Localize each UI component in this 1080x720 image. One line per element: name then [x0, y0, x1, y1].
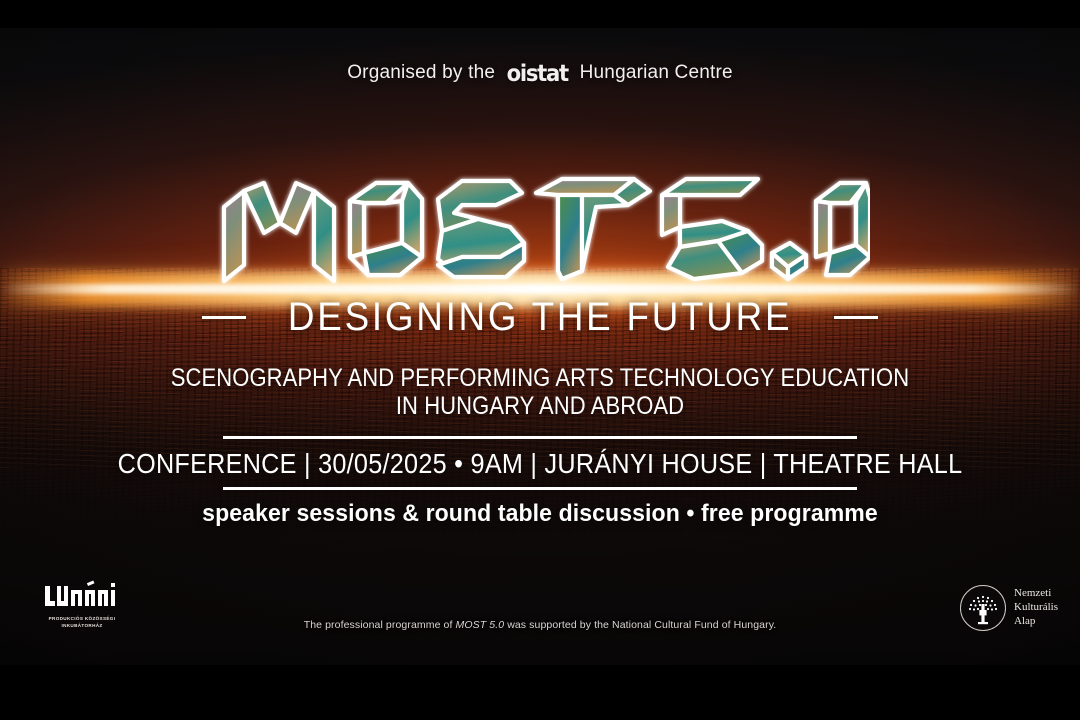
letterbox-bottom: [0, 665, 1080, 720]
juranyi-subtitle: PRODUKCIÓS KÖZÖSSÉGI INKUBÁTORHÁZ: [36, 616, 128, 630]
juranyi-wordmark-icon: [36, 578, 128, 612]
poster-content: Organised by the oistat Hungarian Centre: [0, 0, 1080, 720]
title-letter-S: [438, 181, 524, 277]
juranyi-subtitle-line-2: INKUBÁTORHÁZ: [36, 623, 128, 630]
rule-bottom-wrap: [0, 487, 1080, 490]
nka-logo: Nemzeti Kulturális Alap: [960, 585, 1058, 631]
support-note: The professional programme of MOST 5.0 w…: [0, 619, 1080, 631]
title-letter-T: [536, 179, 650, 279]
juranyi-logo: PRODUKCIÓS KÖZÖSSÉGI INKUBÁTORHÁZ: [36, 578, 128, 630]
title-letter-period: [772, 243, 806, 279]
letterbox-top: [0, 0, 1080, 28]
title-letter-0: [816, 183, 870, 275]
support-note-title: MOST 5.0: [456, 619, 505, 631]
divider-rule-top: [223, 436, 857, 439]
nka-line-2: Kulturális: [1014, 601, 1058, 615]
organiser-line: Organised by the oistat Hungarian Centre: [0, 60, 1080, 86]
divider-rule-bottom: [223, 487, 857, 490]
tagline-text: DESIGNING THE FUTURE: [288, 295, 792, 340]
subhead-line-1: SCENOGRAPHY AND PERFORMING ARTS TECHNOLO…: [65, 364, 1015, 392]
nka-line-3: Alap: [1014, 615, 1058, 629]
tagline-row: DESIGNING THE FUTURE: [0, 295, 1080, 340]
nka-tree-emblem-icon: [960, 585, 1006, 631]
organiser-prefix: Organised by the: [347, 62, 495, 84]
nka-wordmark: Nemzeti Kulturális Alap: [1014, 587, 1058, 629]
programme-line: speaker sessions & round table discussio…: [22, 500, 1059, 528]
juranyi-subtitle-line-1: PRODUKCIÓS KÖZÖSSÉGI: [36, 616, 128, 623]
event-details: CONFERENCE | 30/05/2025 • 9AM | JURÁNYI …: [54, 448, 1026, 480]
subhead-line-2: IN HUNGARY AND ABROAD: [65, 392, 1015, 420]
tagline-dash-left: [202, 316, 246, 319]
nka-line-1: Nemzeti: [1014, 587, 1058, 601]
title-letter-5: [662, 179, 762, 279]
organiser-suffix: Hungarian Centre: [580, 62, 733, 84]
oistat-logo: oistat: [507, 61, 568, 87]
subhead-block: SCENOGRAPHY AND PERFORMING ARTS TECHNOLO…: [65, 364, 1015, 420]
title-letter-O: [350, 183, 422, 275]
title-letter-M: [224, 183, 334, 281]
support-note-before: The professional programme of: [304, 619, 456, 631]
support-note-after: was supported by the National Cultural F…: [504, 619, 776, 631]
page-title: [0, 161, 1080, 293]
tagline-dash-right: [834, 316, 878, 319]
rule-top-wrap: [0, 436, 1080, 439]
poster-root: Organised by the oistat Hungarian Centre: [0, 0, 1080, 720]
